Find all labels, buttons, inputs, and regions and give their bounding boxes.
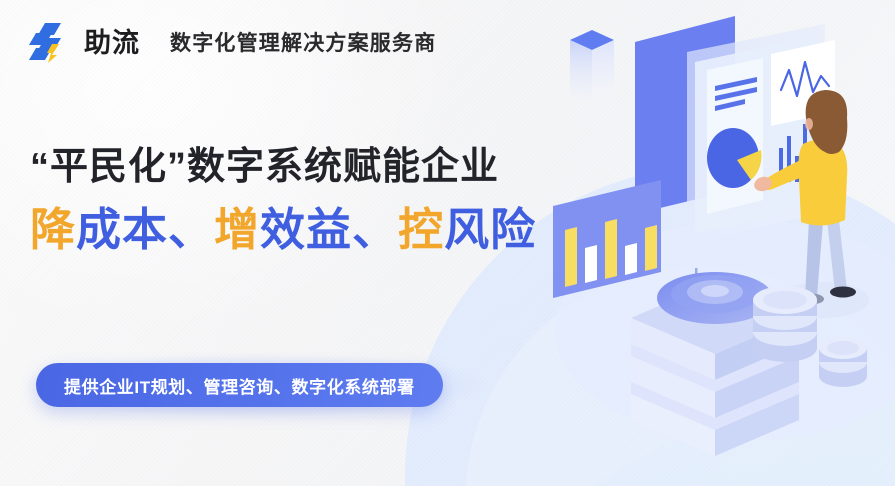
brand-header: 助流 数字化管理解决方案服务商: [28, 22, 436, 64]
headline-primary: “平民化”数字系统赋能企业: [30, 145, 536, 190]
pie-chart-card: [707, 58, 763, 214]
headline-seg-1: 降: [30, 204, 76, 255]
coin-stack-small: [819, 337, 867, 387]
floating-cube-icon: [570, 30, 614, 105]
headline-secondary: 降成本、增效益、控风险: [30, 204, 536, 256]
analytics-illustration: [535, 0, 895, 486]
brand-name: 助流: [84, 30, 140, 57]
headline-seg-5: 控: [398, 204, 444, 255]
logo-icon: [28, 22, 68, 64]
shoe-right: [830, 287, 856, 298]
service-badge-wrapper: 提供企业IT规划、管理咨询、数字化系统部署: [36, 363, 443, 407]
figure-sweater: [799, 139, 848, 225]
service-badge[interactable]: 提供企业IT规划、管理咨询、数字化系统部署: [36, 363, 443, 407]
headline-seg-3: 增: [214, 204, 260, 255]
headline-block: “平民化”数字系统赋能企业 降成本、增效益、控风险: [30, 145, 536, 256]
headline-seg-4: 效益、: [260, 204, 398, 255]
promo-banner: 助流 数字化管理解决方案服务商 “平民化”数字系统赋能企业 降成本、增效益、控风…: [0, 0, 895, 486]
brand-tagline: 数字化管理解决方案服务商: [170, 33, 436, 54]
headline-seg-6: 风险: [444, 204, 536, 255]
headline-seg-2: 成本、: [76, 204, 214, 255]
coin-stack-large: [753, 286, 817, 362]
